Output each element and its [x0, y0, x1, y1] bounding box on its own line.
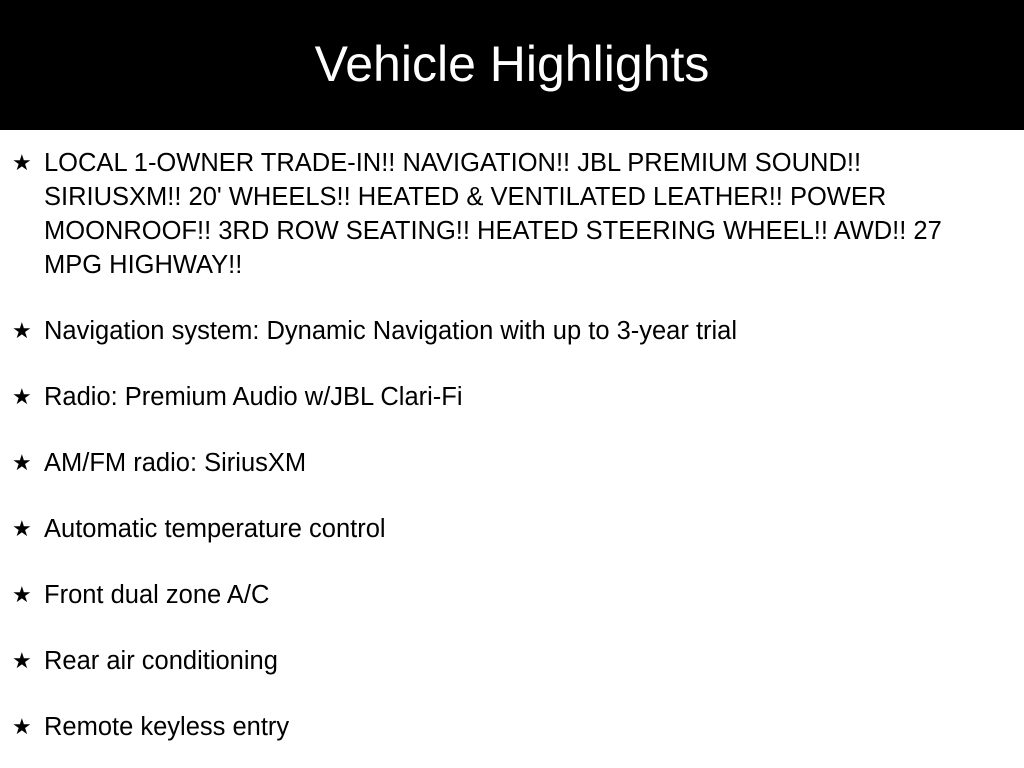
star-bullet-icon: ★ — [12, 644, 36, 678]
highlight-text: Navigation system: Dynamic Navigation wi… — [44, 314, 966, 348]
list-item: ★ AM/FM radio: SiriusXM — [0, 446, 1024, 480]
star-bullet-icon: ★ — [12, 512, 36, 546]
highlight-text: Automatic temperature control — [44, 512, 966, 546]
list-item: ★ Automatic temperature control — [0, 512, 1024, 546]
highlight-text: Front dual zone A/C — [44, 578, 966, 612]
list-item: ★ Remote keyless entry — [0, 710, 1024, 744]
star-bullet-icon: ★ — [12, 446, 36, 480]
highlight-text: Radio: Premium Audio w/JBL Clari-Fi — [44, 380, 966, 414]
list-item: ★ Navigation system: Dynamic Navigation … — [0, 314, 1024, 348]
slide-header-bar: Vehicle Highlights — [0, 0, 1024, 130]
list-item: ★ LOCAL 1-OWNER TRADE-IN!! NAVIGATION!! … — [0, 146, 1024, 282]
highlight-text: AM/FM radio: SiriusXM — [44, 446, 966, 480]
highlight-text: LOCAL 1-OWNER TRADE-IN!! NAVIGATION!! JB… — [44, 146, 966, 282]
highlight-text: Remote keyless entry — [44, 710, 966, 744]
star-bullet-icon: ★ — [12, 146, 36, 180]
vehicle-highlights-list: ★ LOCAL 1-OWNER TRADE-IN!! NAVIGATION!! … — [0, 130, 1024, 744]
list-item: ★ Radio: Premium Audio w/JBL Clari-Fi — [0, 380, 1024, 414]
star-bullet-icon: ★ — [12, 314, 36, 348]
star-bullet-icon: ★ — [12, 380, 36, 414]
list-item: ★ Rear air conditioning — [0, 644, 1024, 678]
page-title: Vehicle Highlights — [315, 39, 710, 89]
highlight-text: Rear air conditioning — [44, 644, 966, 678]
list-item: ★ Front dual zone A/C — [0, 578, 1024, 612]
star-bullet-icon: ★ — [12, 578, 36, 612]
star-bullet-icon: ★ — [12, 710, 36, 744]
vehicle-highlights-slide: Vehicle Highlights ★ LOCAL 1-OWNER TRADE… — [0, 0, 1024, 768]
